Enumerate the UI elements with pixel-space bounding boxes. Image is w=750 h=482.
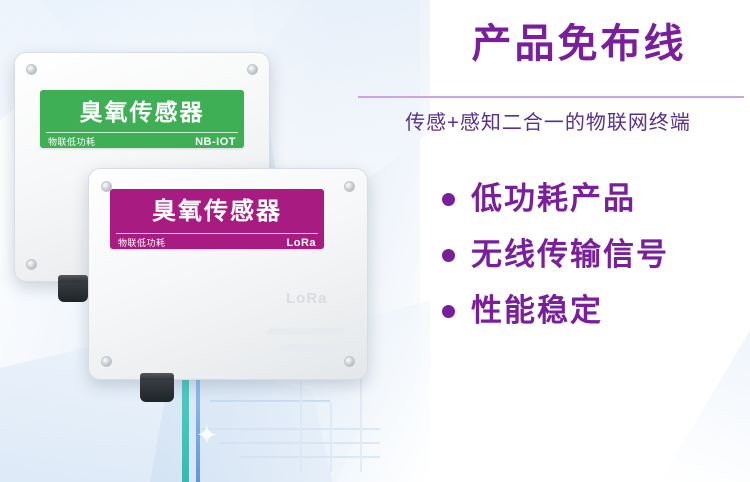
promo-bullet-list: 低功耗产品 无线传输信号 性能稳定 (442, 182, 669, 350)
cable-gland-top (58, 275, 88, 282)
screw-icon (101, 356, 112, 367)
cable-gland (140, 378, 174, 402)
device-watermark: LoRa (286, 290, 328, 307)
cable-gland-top (140, 373, 174, 380)
promo-headline: 产品免布线 (418, 20, 740, 68)
device-label-sub-right: LoRa (287, 237, 317, 249)
device-label-subrow: 物联低功耗 LoRa (110, 234, 324, 249)
promo-subhead: 传感+感知二合一的物联网终端 (352, 106, 744, 135)
device-lora: 臭氧传感器 物联低功耗 LoRa LoRa (88, 168, 368, 380)
device-label-sub-right: NB-IOT (195, 136, 236, 148)
divider (358, 96, 744, 98)
sparkle-icon: ✦ (196, 420, 218, 451)
list-item: 性能稳定 (442, 294, 669, 328)
bullet-label: 性能稳定 (471, 294, 603, 328)
device-label-subrow: 物联低功耗 NB-IOT (40, 133, 244, 148)
bullet-label: 无线传输信号 (471, 238, 669, 272)
bullet-dot-icon (442, 305, 455, 318)
device-label-plate: 臭氧传感器 物联低功耗 LoRa (110, 189, 324, 249)
bullet-dot-icon (442, 193, 455, 206)
screw-icon (26, 64, 37, 75)
device-vent (279, 344, 344, 351)
cable-gland (58, 280, 88, 302)
screw-icon (26, 259, 37, 270)
device-label-title: 臭氧传感器 (40, 90, 244, 132)
device-label-title: 臭氧传感器 (110, 189, 324, 233)
device-label-plate: 臭氧传感器 物联低功耗 NB-IOT (40, 90, 244, 148)
bullet-dot-icon (442, 249, 455, 262)
device-label-sub-left: 物联低功耗 (48, 135, 96, 148)
list-item: 低功耗产品 (442, 182, 669, 216)
screw-icon (247, 64, 258, 75)
device-label-sub-left: 物联低功耗 (118, 236, 166, 249)
promo-banner: ✦ 臭氧传感器 物联低功耗 NB-IOT 臭氧传感器 (0, 0, 750, 482)
promo-copy: 产品免布线 传感+感知二合一的物联网终端 低功耗产品 无线传输信号 性能稳定 (352, 0, 750, 482)
bullet-label: 低功耗产品 (471, 182, 636, 216)
list-item: 无线传输信号 (442, 238, 669, 272)
device-vent (267, 328, 346, 335)
